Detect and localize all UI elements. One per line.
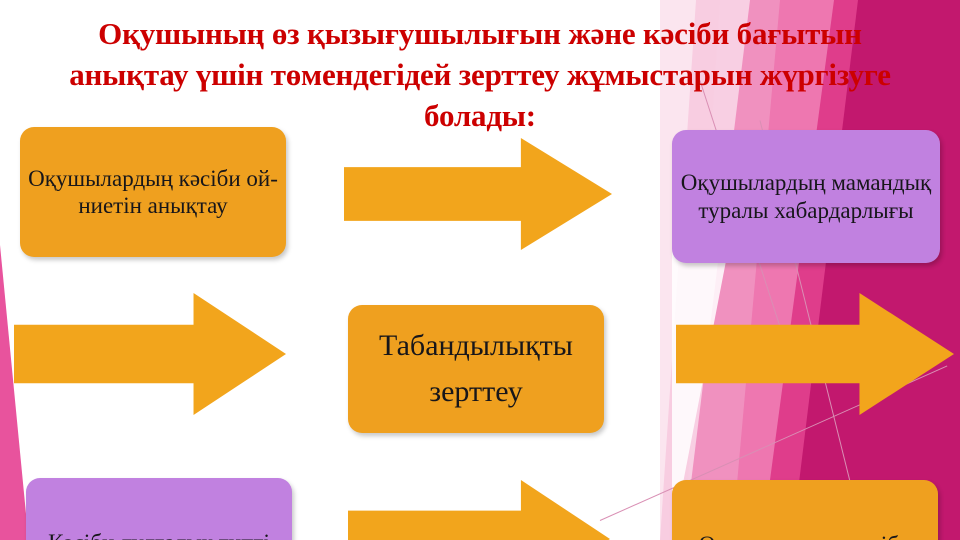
arrow-right-icon-left: [14, 293, 286, 415]
diagram-box-top-left: Оқушылардың кәсіби ой-ниетін анықтау: [20, 127, 286, 257]
diagram-box-bottom-left: Кәсіби-тұлғалық типті: [26, 478, 292, 540]
diagram-box-top-right: Оқушылардың мамандық туралы хабардарлығы: [672, 130, 940, 263]
diagram-box-center-label: Табандылықты зерттеу: [356, 323, 596, 416]
diagram-box-center: Табандылықты зерттеу: [348, 305, 604, 433]
diagram-box-top-right-label: Оқушылардың мамандық туралы хабардарлығы: [680, 169, 932, 223]
diagram-box-top-left-label: Оқушылардың кәсіби ой-ниетін анықтау: [28, 165, 278, 219]
arrow-right-icon-bottom: [348, 480, 610, 540]
diagram-box-bottom-right: Оқушылардың кәсіби: [672, 480, 938, 540]
diagram-box-bottom-left-label: Кәсіби-тұлғалық типті: [48, 529, 270, 540]
slide-title: Оқушының өз қызығушылығын және кәсіби ба…: [60, 14, 900, 137]
arrow-right-icon-right: [676, 293, 954, 415]
arrow-right-icon-top: [344, 138, 612, 250]
diagram-box-bottom-right-label: Оқушылардың кәсіби: [699, 531, 912, 540]
slide-canvas: Оқушының өз қызығушылығын және кәсіби ба…: [0, 0, 960, 540]
